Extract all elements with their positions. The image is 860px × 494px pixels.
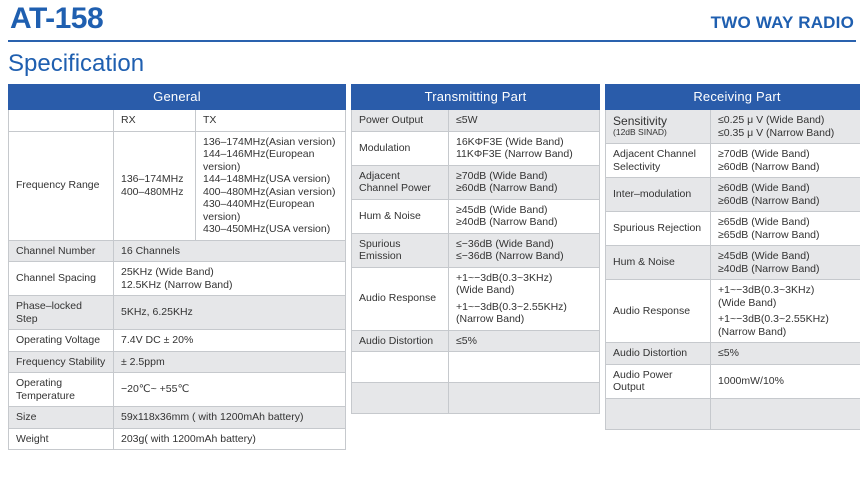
rx-inter-modulation-line-1: ≥60dB (Wide Band) (718, 182, 860, 195)
table-row: Audio Response +1~−3dB(0.3~3KHz) (Wide B… (352, 267, 600, 330)
row-label-tx-spurious-emission: Spurious Emission (352, 233, 449, 267)
row-value-rx-audio-power-output: 1000mW/10% (711, 364, 860, 398)
table-row: Audio Response +1~−3dB(0.3~3KHz) (Wide B… (606, 280, 860, 343)
tx-audio-response-line-2: (Wide Band) (456, 284, 592, 297)
table-row: Power Output ≤5W (352, 110, 600, 132)
rx-spurious-rejection-line-1: ≥65dB (Wide Band) (718, 216, 860, 229)
tx-modulation-line-1: 16KΦF3E (Wide Band) (456, 136, 592, 149)
table-subheader-row: RX TX (9, 110, 346, 132)
row-value-tx-power-output: ≤5W (449, 110, 600, 132)
row-value-rx-hum-noise: ≥45dB (Wide Band) ≥40dB (Narrow Band) (711, 246, 860, 280)
row-label-channel-number: Channel Number (9, 240, 114, 262)
rx-audio-response-line-3: +1~−3dB(0.3~2.55KHz) (718, 313, 860, 326)
tx-hum-noise-line-1: ≥45dB (Wide Band) (456, 204, 592, 217)
row-label-rx-hum-noise: Hum & Noise (606, 246, 711, 280)
tx-spurious-emission-line-2: ≤−36dB (Narrow Band) (456, 250, 592, 263)
rx-hum-noise-line-1: ≥45dB (Wide Band) (718, 250, 860, 263)
table-row: Audio Distortion ≤5% (352, 330, 600, 352)
row-value-rx-inter-modulation: ≥60dB (Wide Band) ≥60dB (Narrow Band) (711, 178, 860, 212)
table-row: Hum & Noise ≥45dB (Wide Band) ≥40dB (Nar… (352, 199, 600, 233)
rx-sensitivity-line-2: ≤0.35 μ V (Narrow Band) (718, 127, 860, 140)
row-value-tx-adjacent-channel-power: ≥70dB (Wide Band) ≥60dB (Narrow Band) (449, 165, 600, 199)
table-row: Hum & Noise ≥45dB (Wide Band) ≥40dB (Nar… (606, 246, 860, 280)
row-label-tx-adjacent-channel-power: Adjacent Channel Power (352, 165, 449, 199)
general-subhead-blank (9, 110, 114, 132)
page-banner: AT-158 TWO WAY RADIO (0, 0, 860, 42)
table-row: Operating Temperature −20℃~ +55℃ (9, 373, 346, 407)
tx-adjacent-channel-power-line-1: ≥70dB (Wide Band) (456, 170, 592, 183)
freq-tx-line-5: 430–440MHz(European version) (203, 198, 338, 223)
table-row: Adjacent Channel Selectivity ≥70dB (Wide… (606, 144, 860, 178)
size-line-1: 59x118x36mm ( with 1200mAh battery) (121, 411, 338, 424)
row-label-rx-spurious-rejection: Spurious Rejection (606, 212, 711, 246)
tx-power-output-line-1: ≤5W (456, 114, 592, 127)
row-label-weight: Weight (9, 428, 114, 450)
rx-adjacent-channel-selectivity-line-1: ≥70dB (Wide Band) (718, 148, 860, 161)
table-row: Size 59x118x36mm ( with 1200mAh battery) (9, 407, 346, 429)
phase-locked-step-line-1: 5KHz, 6.25KHz (121, 306, 338, 319)
row-value-rx-empty-1 (711, 398, 860, 429)
table-row: Frequency Range 136–174MHz 400–480MHz 13… (9, 131, 346, 240)
row-label-size: Size (9, 407, 114, 429)
row-value-tx-audio-distortion: ≤5% (449, 330, 600, 352)
row-value-tx-spurious-emission: ≤−36dB (Wide Band) ≤−36dB (Narrow Band) (449, 233, 600, 267)
tx-audio-distortion-line-1: ≤5% (456, 335, 592, 348)
section-title: Specification (8, 50, 860, 78)
table-row: Spurious Rejection ≥65dB (Wide Band) ≥65… (606, 212, 860, 246)
row-value-phase-locked-step: 5KHz, 6.25KHz (114, 296, 346, 330)
frequency-stability-line-1: ± 2.5ppm (121, 356, 338, 369)
row-label-frequency-range: Frequency Range (9, 131, 114, 240)
rx-adjacent-channel-selectivity-line-2: ≥60dB (Narrow Band) (718, 161, 860, 174)
general-subhead-rx: RX (114, 110, 196, 132)
table-row: Spurious Emission ≤−36dB (Wide Band) ≤−3… (352, 233, 600, 267)
row-value-size: 59x118x36mm ( with 1200mAh battery) (114, 407, 346, 429)
table-row (606, 398, 860, 429)
table-row: Inter–modulation ≥60dB (Wide Band) ≥60dB… (606, 178, 860, 212)
row-value-frequency-stability: ± 2.5ppm (114, 351, 346, 373)
table-row: Sensitivity (12dB SINAD) ≤0.25 μ V (Wide… (606, 110, 860, 144)
tx-modulation-line-2: 11KΦF3E (Narrow Band) (456, 148, 592, 161)
table-row: Modulation 16KΦF3E (Wide Band) 11KΦF3E (… (352, 131, 600, 165)
rx-audio-distortion-line-1: ≤5% (718, 347, 860, 360)
channel-spacing-line-1: 25KHz (Wide Band) (121, 266, 338, 279)
table-row: Phase–locked Step 5KHz, 6.25KHz (9, 296, 346, 330)
tx-spurious-emission-line-1: ≤−36dB (Wide Band) (456, 238, 592, 251)
operating-voltage-line-1: 7.4V DC ± 20% (121, 334, 338, 347)
row-label-tx-power-output: Power Output (352, 110, 449, 132)
rx-audio-power-output-line-1: 1000mW/10% (718, 375, 860, 388)
operating-temperature-line-1: −20℃~ +55℃ (121, 383, 338, 396)
table-row: Audio Distortion ≤5% (606, 343, 860, 365)
row-value-rx-adjacent-channel-selectivity: ≥70dB (Wide Band) ≥60dB (Narrow Band) (711, 144, 860, 178)
row-label-rx-sensitivity: Sensitivity (12dB SINAD) (606, 110, 711, 144)
row-value-operating-voltage: 7.4V DC ± 20% (114, 330, 346, 352)
specification-page: AT-158 TWO WAY RADIO Specification Gener… (0, 0, 860, 494)
row-value-tx-empty-2 (449, 383, 600, 414)
table-header-row: Transmitting Part (352, 85, 600, 110)
table-row: Channel Spacing 25KHz (Wide Band) 12.5KH… (9, 262, 346, 296)
table-row (352, 383, 600, 414)
tx-audio-response-line-4: (Narrow Band) (456, 313, 592, 326)
freq-tx-line-1: 136–174MHz(Asian version) (203, 136, 338, 149)
row-label-tx-modulation: Modulation (352, 131, 449, 165)
rx-sensitivity-line-1: ≤0.25 μ V (Wide Band) (718, 114, 860, 127)
rx-audio-response-line-2: (Wide Band) (718, 297, 860, 310)
transmitting-table-title: Transmitting Part (352, 85, 600, 110)
row-label-channel-spacing: Channel Spacing (9, 262, 114, 296)
row-label-rx-adjacent-channel-selectivity: Adjacent Channel Selectivity (606, 144, 711, 178)
row-label-tx-empty-2 (352, 383, 449, 414)
freq-tx-line-3: 144–148MHz(USA version) (203, 173, 338, 186)
row-value-tx-modulation: 16KΦF3E (Wide Band) 11KΦF3E (Narrow Band… (449, 131, 600, 165)
row-value-tx-empty-1 (449, 352, 600, 383)
freq-rx-line-2: 400–480MHz (121, 186, 188, 199)
row-label-rx-audio-response: Audio Response (606, 280, 711, 343)
row-label-tx-empty-1 (352, 352, 449, 383)
table-row: Adjacent Channel Power ≥70dB (Wide Band)… (352, 165, 600, 199)
table-row: Weight 203g( with 1200mAh battery) (9, 428, 346, 450)
transmitting-spec-table: Transmitting Part Power Output ≤5W Modul… (351, 84, 600, 414)
rx-audio-response-line-1: +1~−3dB(0.3~3KHz) (718, 284, 860, 297)
tx-adjacent-channel-power-line-2: ≥60dB (Narrow Band) (456, 182, 592, 195)
table-header-row: General (9, 85, 346, 110)
row-value-rx-audio-distortion: ≤5% (711, 343, 860, 365)
rx-inter-modulation-line-2: ≥60dB (Narrow Band) (718, 195, 860, 208)
general-table-title: General (9, 85, 346, 110)
row-value-tx-hum-noise: ≥45dB (Wide Band) ≥40dB (Narrow Band) (449, 199, 600, 233)
row-value-rx-audio-response: +1~−3dB(0.3~3KHz) (Wide Band) +1~−3dB(0.… (711, 280, 860, 343)
row-value-channel-spacing: 25KHz (Wide Band) 12.5KHz (Narrow Band) (114, 262, 346, 296)
row-label-tx-audio-distortion: Audio Distortion (352, 330, 449, 352)
table-header-row: Receiving Part (606, 85, 860, 110)
table-row: Channel Number 16 Channels (9, 240, 346, 262)
channel-spacing-line-2: 12.5KHz (Narrow Band) (121, 279, 338, 292)
row-value-rx-sensitivity: ≤0.25 μ V (Wide Band) ≤0.35 μ V (Narrow … (711, 110, 860, 144)
row-label-tx-audio-response: Audio Response (352, 267, 449, 330)
receiving-spec-table: Receiving Part Sensitivity (12dB SINAD) … (605, 84, 860, 430)
tx-audio-response-line-3: +1~−3dB(0.3~2.55KHz) (456, 301, 592, 314)
row-label-rx-empty-1 (606, 398, 711, 429)
table-row: Audio Power Output 1000mW/10% (606, 364, 860, 398)
rx-hum-noise-line-2: ≥40dB (Narrow Band) (718, 263, 860, 276)
general-subhead-tx: TX (196, 110, 346, 132)
banner-divider (8, 40, 856, 42)
table-row: Operating Voltage 7.4V DC ± 20% (9, 330, 346, 352)
product-model-title: AT-158 (10, 2, 103, 36)
freq-tx-line-4: 400–480MHz(Asian version) (203, 186, 338, 199)
weight-line-1: 203g( with 1200mAh battery) (121, 433, 338, 446)
row-value-frequency-range-tx: 136–174MHz(Asian version) 144–146MHz(Eur… (196, 131, 346, 240)
rx-sensitivity-label: Sensitivity (613, 115, 703, 128)
product-tagline: TWO WAY RADIO (711, 6, 854, 40)
row-label-rx-audio-distortion: Audio Distortion (606, 343, 711, 365)
tx-hum-noise-line-2: ≥40dB (Narrow Band) (456, 216, 592, 229)
receiving-table-title: Receiving Part (606, 85, 860, 110)
row-value-channel-number: 16 Channels (114, 240, 346, 262)
row-label-rx-inter-modulation: Inter–modulation (606, 178, 711, 212)
row-value-tx-audio-response: +1~−3dB(0.3~3KHz) (Wide Band) +1~−3dB(0.… (449, 267, 600, 330)
freq-tx-line-2: 144–146MHz(European version) (203, 148, 338, 173)
row-label-rx-audio-power-output: Audio Power Output (606, 364, 711, 398)
row-value-operating-temperature: −20℃~ +55℃ (114, 373, 346, 407)
rx-spurious-rejection-line-2: ≥65dB (Narrow Band) (718, 229, 860, 242)
row-value-frequency-range-rx: 136–174MHz 400–480MHz (114, 131, 196, 240)
freq-tx-line-6: 430–450MHz(USA version) (203, 223, 338, 236)
rx-audio-response-line-4: (Narrow Band) (718, 326, 860, 339)
row-value-rx-spurious-rejection: ≥65dB (Wide Band) ≥65dB (Narrow Band) (711, 212, 860, 246)
row-value-weight: 203g( with 1200mAh battery) (114, 428, 346, 450)
rx-sensitivity-sublabel: (12dB SINAD) (613, 127, 703, 138)
tx-audio-response-line-1: +1~−3dB(0.3~3KHz) (456, 272, 592, 285)
freq-rx-line-1: 136–174MHz (121, 173, 188, 186)
general-spec-table: General RX TX Frequency Range 136–174MHz… (8, 84, 346, 450)
channel-number-line-1: 16 Channels (121, 245, 338, 258)
specification-tables: General RX TX Frequency Range 136–174MHz… (8, 84, 856, 450)
row-label-phase-locked-step: Phase–locked Step (9, 296, 114, 330)
row-label-operating-temperature: Operating Temperature (9, 373, 114, 407)
table-row (352, 352, 600, 383)
row-label-frequency-stability: Frequency Stability (9, 351, 114, 373)
row-label-tx-hum-noise: Hum & Noise (352, 199, 449, 233)
table-row: Frequency Stability ± 2.5ppm (9, 351, 346, 373)
row-label-operating-voltage: Operating Voltage (9, 330, 114, 352)
